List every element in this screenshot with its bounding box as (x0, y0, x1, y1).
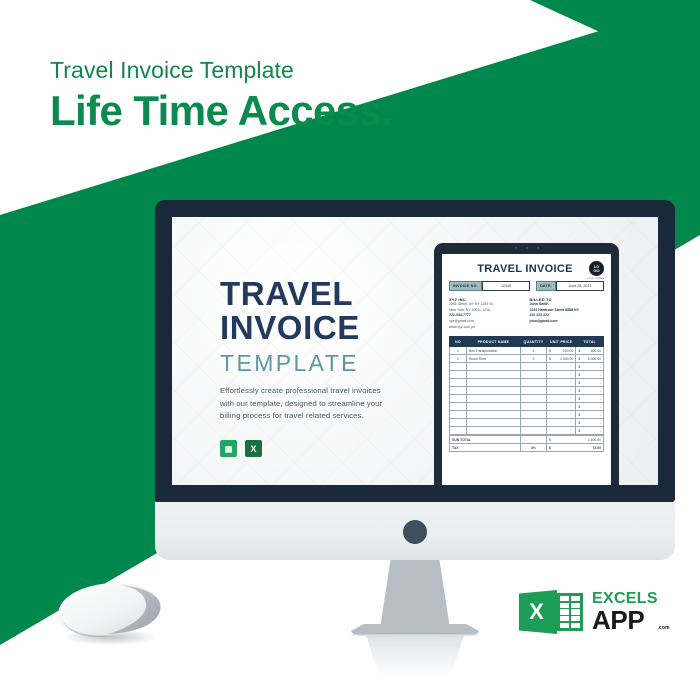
cell-product (466, 395, 520, 403)
billed-to-block: BILLED TO John Smith 2222 Hardison Stree… (530, 297, 605, 330)
grid-cell (560, 603, 569, 608)
currency-symbol: $ (578, 429, 580, 433)
totals-body: SUB TOTAL$2,400.00TAX3%$72.00 (450, 436, 604, 452)
total-value: $72.00 (547, 444, 604, 452)
table-row[interactable]: 2Room Rent2$1,000.00$2,000.00 (450, 355, 604, 363)
excel-icon[interactable]: X (245, 440, 262, 457)
headline-block: Travel Invoice Template Life Time Access… (50, 58, 392, 134)
sender-block: XYZ INC. 1281 Street, NY NY 1281 St. New… (449, 297, 524, 330)
cell-unit-price (547, 363, 576, 371)
currency-symbol: $ (578, 365, 580, 369)
total-rate (520, 436, 546, 444)
grid-cell (571, 609, 580, 614)
grid-cell (560, 616, 569, 621)
table-row[interactable]: $- (450, 379, 604, 387)
tablet-mockup: TRAVEL INVOICE LO GO YOUR COMPANY INVOIC… (434, 243, 619, 485)
currency-symbol: $ (578, 413, 580, 417)
invoice-no-value[interactable]: 12345 (482, 281, 530, 291)
line-items-table: NO PRODUCT NAME QUANTITY UNIT PRICE TOTA… (449, 336, 604, 435)
currency-symbol: $ (578, 405, 580, 409)
table-body: 1Bus Transportation4$100.00$400.002Room … (450, 347, 604, 435)
google-sheets-icon[interactable]: ▦ (220, 440, 237, 457)
col-total: TOTAL (576, 337, 604, 347)
currency-symbol: $ (549, 446, 551, 450)
grid-cell (560, 609, 569, 614)
total-label: TAX (450, 444, 521, 452)
invoice-meta-row: INVOICE NO. 12345 DATE. June 28, 2023 (449, 281, 604, 291)
cell-product (466, 387, 520, 395)
grid-cell (560, 623, 569, 628)
cell-total: $- (576, 363, 604, 371)
total-value: $2,400.00 (547, 436, 604, 444)
cell-product (466, 371, 520, 379)
invoice-title: TRAVEL INVOICE (449, 263, 589, 275)
cell-quantity (520, 363, 546, 371)
cell-no: 1 (450, 347, 467, 355)
table-row[interactable]: $- (450, 419, 604, 427)
slide-subtitle: TEMPLATE (220, 350, 420, 377)
currency-symbol: $ (578, 357, 580, 361)
brand-name-bottom: APP .com (592, 607, 658, 633)
table-row[interactable]: $- (450, 395, 604, 403)
google-sheets-glyph: ▦ (225, 444, 233, 453)
page-title: Life Time Access. (50, 87, 392, 134)
app-icons: ▦ X (220, 440, 420, 457)
cell-total: $- (576, 395, 604, 403)
imac-mockup: TRAVEL INVOICE TEMPLATE Effortlessly cre… (155, 200, 675, 540)
table-row[interactable]: 1Bus Transportation4$100.00$400.00 (450, 347, 604, 355)
cell-quantity (520, 419, 546, 427)
col-product: PRODUCT NAME (466, 337, 520, 347)
cell-total: $- (576, 403, 604, 411)
totals-table: SUB TOTAL$2,400.00TAX3%$72.00 (449, 435, 604, 452)
cell-product (466, 427, 520, 435)
slide-paragraph: Effortlessly create professional travel … (220, 385, 388, 422)
grid-cell (571, 596, 580, 601)
excel-x-icon: X (519, 590, 557, 634)
eyebrow-text: Travel Invoice Template (50, 58, 392, 83)
invoice-date-value[interactable]: June 28, 2023 (556, 281, 604, 291)
company-logo-text: LO GO (593, 264, 599, 272)
currency-symbol: $ (578, 373, 580, 377)
company-logo-subtext: YOUR COMPANY (585, 278, 608, 280)
camera-dot (526, 247, 528, 249)
cell-total: $- (576, 371, 604, 379)
excelsapp-logo-mark: X (519, 588, 585, 636)
table-row[interactable]: $- (450, 411, 604, 419)
cell-unit-price (547, 379, 576, 387)
table-row[interactable]: $- (450, 427, 604, 435)
cell-product (466, 379, 520, 387)
excel-glyph: X (250, 444, 256, 454)
col-no: NO (450, 337, 467, 347)
currency-symbol: $ (549, 438, 551, 442)
cell-quantity (520, 427, 546, 435)
cell-total: $- (576, 379, 604, 387)
currency-symbol: $ (578, 421, 580, 425)
cell-unit-price: $100.00 (547, 347, 576, 355)
cell-no (450, 411, 467, 419)
cell-total: $400.00 (576, 347, 604, 355)
poster-canvas: Travel Invoice Template Life Time Access… (0, 0, 700, 700)
brand-domain-suffix: .com (657, 626, 669, 631)
invoice-document: TRAVEL INVOICE LO GO YOUR COMPANY INVOIC… (442, 254, 611, 452)
cell-no (450, 427, 467, 435)
cell-no (450, 363, 467, 371)
grid-cell (571, 616, 580, 621)
camera-dot (537, 247, 539, 249)
cell-no (450, 395, 467, 403)
currency-symbol: $ (578, 381, 580, 385)
spreadsheet-grid-icon (557, 593, 583, 631)
total-rate: 3% (520, 444, 546, 452)
cell-product (466, 363, 520, 371)
monitor-bezel: TRAVEL INVOICE TEMPLATE Effortlessly cre… (155, 200, 675, 502)
cell-unit-price (547, 403, 576, 411)
cell-product (466, 403, 520, 411)
cell-product: Room Rent (466, 355, 520, 363)
monitor-screen: TRAVEL INVOICE TEMPLATE Effortlessly cre… (172, 217, 658, 485)
currency-symbol: $ (549, 357, 551, 361)
total-label: SUB TOTAL (450, 436, 521, 444)
slide-title-line1: TRAVEL (220, 277, 420, 311)
excelsapp-logo[interactable]: X EXCELS APP .com (519, 588, 658, 636)
cell-quantity (520, 371, 546, 379)
cell-unit-price: $1,000.00 (547, 355, 576, 363)
camera-dot (515, 247, 517, 249)
cell-unit-price (547, 419, 576, 427)
cell-no (450, 387, 467, 395)
cell-total: $2,000.00 (576, 355, 604, 363)
cell-product (466, 411, 520, 419)
cell-quantity (520, 387, 546, 395)
invoice-parties: XYZ INC. 1281 Street, NY NY 1281 St. New… (449, 297, 604, 330)
currency-symbol: $ (578, 349, 580, 353)
company-logo-icon: LO GO YOUR COMPANY (589, 261, 604, 276)
cell-quantity (520, 411, 546, 419)
col-unit-price: UNIT PRICE (547, 337, 576, 347)
brand-app-text: APP (592, 605, 644, 635)
table-head: NO PRODUCT NAME QUANTITY UNIT PRICE TOTA… (450, 337, 604, 347)
grid-cell (560, 596, 569, 601)
currency-symbol: $ (549, 349, 551, 353)
cell-no: 2 (450, 355, 467, 363)
monitor-logo (403, 520, 427, 544)
monitor-chin (155, 502, 675, 560)
cell-total: $- (576, 419, 604, 427)
cell-unit-price (547, 427, 576, 435)
cell-no (450, 379, 467, 387)
cell-unit-price (547, 387, 576, 395)
table-row[interactable]: $- (450, 363, 604, 371)
cell-unit-price (547, 371, 576, 379)
cell-no (450, 419, 467, 427)
col-quantity: QUANTITY (520, 337, 546, 347)
cell-no (450, 371, 467, 379)
invoice-no-label: INVOICE NO. (449, 281, 482, 291)
currency-symbol: $ (578, 389, 580, 393)
tablet-screen: TRAVEL INVOICE LO GO YOUR COMPANY INVOIC… (442, 254, 611, 485)
cell-product: Bus Transportation (466, 347, 520, 355)
invoice-header: TRAVEL INVOICE LO GO YOUR COMPANY (449, 261, 604, 276)
totals-row: SUB TOTAL$2,400.00 (450, 436, 604, 444)
table-row[interactable]: $- (450, 403, 604, 411)
table-header-row: NO PRODUCT NAME QUANTITY UNIT PRICE TOTA… (450, 337, 604, 347)
tablet-camera-dots (434, 247, 619, 249)
cell-quantity: 2 (520, 355, 546, 363)
grid-cell (571, 623, 580, 628)
slide-title-line2: INVOICE (220, 311, 420, 345)
billed-to-email: john@gmail.com (530, 319, 605, 325)
excel-x-letter: X (529, 599, 544, 625)
cell-total: $- (576, 387, 604, 395)
cell-quantity: 4 (520, 347, 546, 355)
grid-cell (571, 603, 580, 608)
cell-quantity (520, 395, 546, 403)
cell-unit-price (547, 395, 576, 403)
sender-website: www.xyz.com.ph (449, 325, 524, 331)
cell-quantity (520, 379, 546, 387)
invoice-date-label: DATE. (536, 281, 556, 291)
cell-unit-price (547, 411, 576, 419)
totals-row: TAX3%$72.00 (450, 444, 604, 452)
cell-no (450, 403, 467, 411)
currency-symbol: $ (578, 397, 580, 401)
table-row[interactable]: $- (450, 387, 604, 395)
computer-mouse (48, 575, 176, 647)
cell-quantity (520, 403, 546, 411)
table-row[interactable]: $- (450, 371, 604, 379)
excelsapp-wordmark: EXCELS APP .com (592, 591, 658, 633)
cell-total: $- (576, 411, 604, 419)
cell-product (466, 419, 520, 427)
monitor-stand-neck (381, 560, 449, 632)
slide-copy: TRAVEL INVOICE TEMPLATE Effortlessly cre… (220, 277, 420, 457)
cell-total: $- (576, 427, 604, 435)
